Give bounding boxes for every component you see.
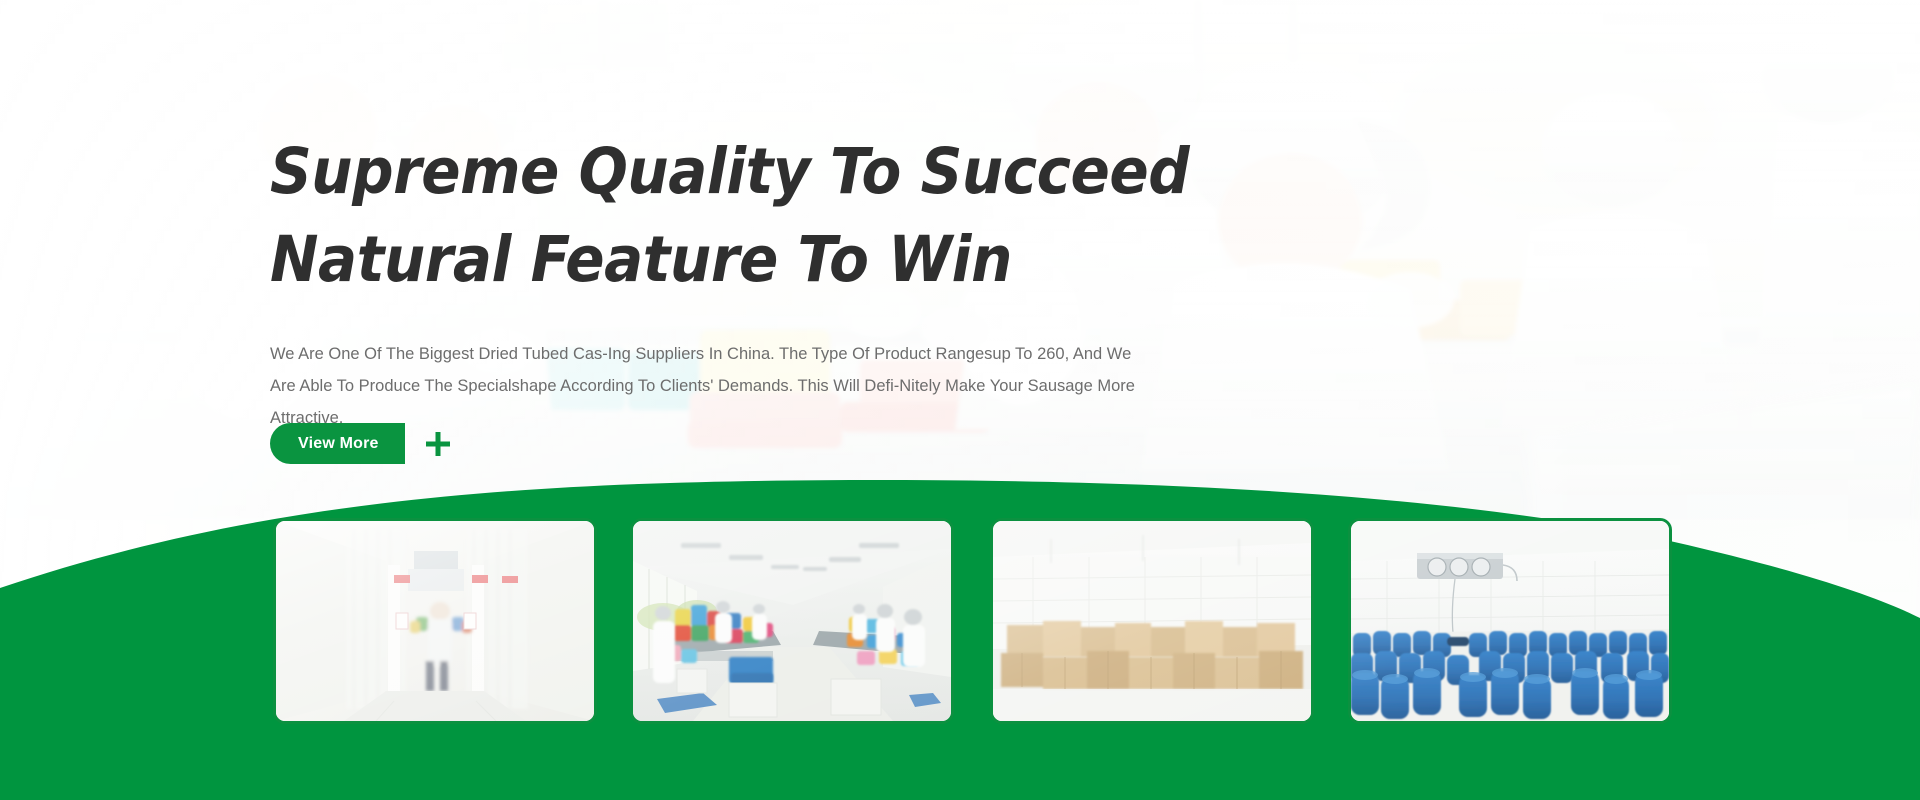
page-title-line-1: Supreme Quality To Succeed [270, 128, 1208, 216]
photo-card-warehouse[interactable] [990, 518, 1314, 724]
photo-card-production-line[interactable] [630, 518, 954, 724]
hero-banner-section: Supreme Quality To Succeed Natural Featu… [0, 0, 1920, 800]
hero-description: We Are One Of The Biggest Dried Tubed Ca… [270, 338, 1160, 434]
photo-card-cold-storage[interactable] [1348, 518, 1672, 724]
hero-cta-row: View More [270, 423, 453, 464]
factory-photo-card-strip [273, 518, 1672, 724]
page-title-line-2: Natural Feature To Win [270, 216, 1208, 304]
view-more-button[interactable]: View More [270, 423, 405, 464]
hero-copy-block: Supreme Quality To Succeed Natural Featu… [270, 128, 1290, 434]
photo-card-air-shower[interactable] [273, 518, 597, 724]
plus-icon[interactable] [423, 429, 453, 459]
